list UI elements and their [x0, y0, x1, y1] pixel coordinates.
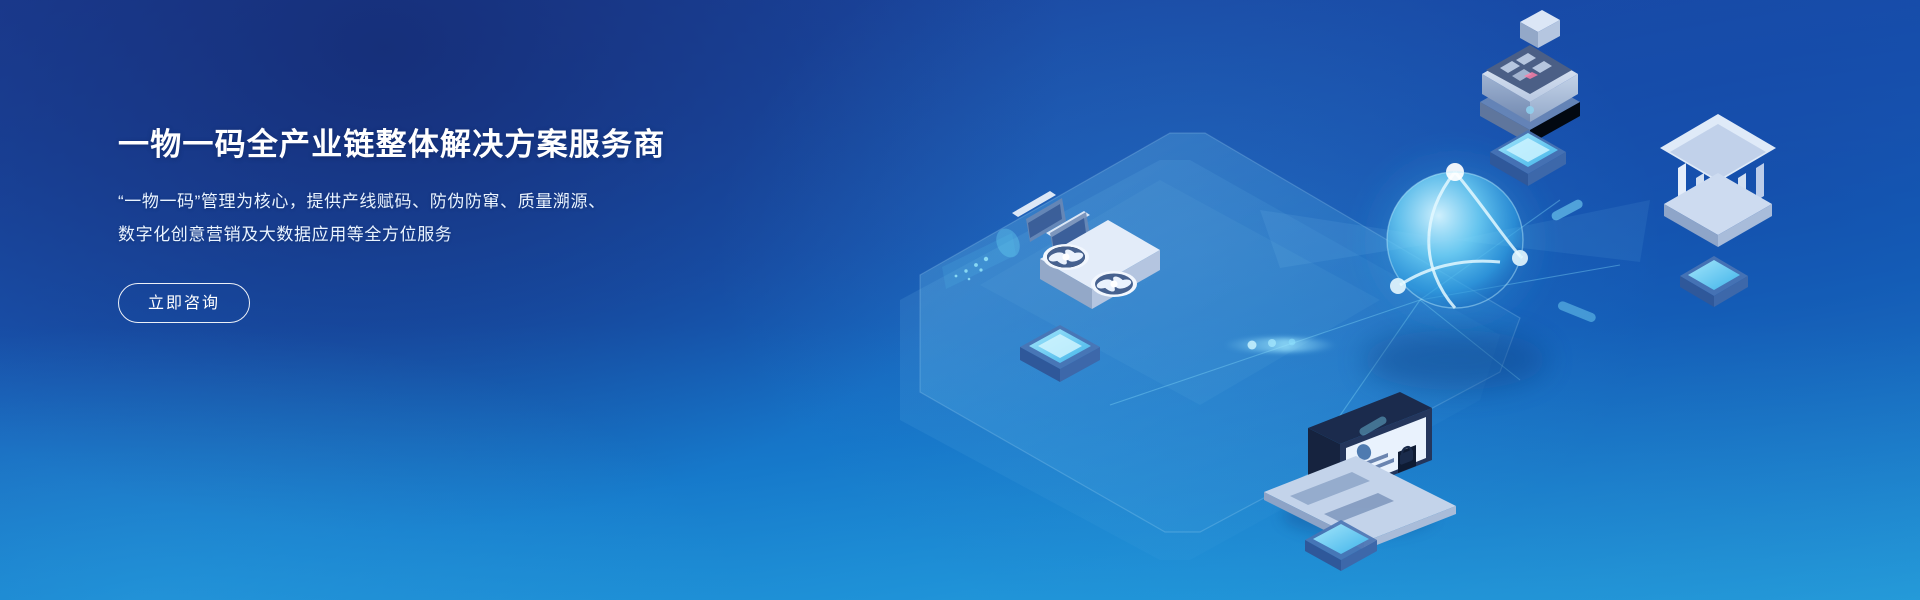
- banner-copy-block: 一物一码全产业链整体解决方案服务商 “一物一码”管理为核心，提供产线赋码、防伪防…: [118, 126, 818, 323]
- pedestal: [1680, 256, 1748, 307]
- pos-terminal: [1480, 10, 1580, 144]
- consult-now-button[interactable]: 立即咨询: [118, 283, 250, 323]
- isometric-illustration: [860, 0, 1920, 600]
- page-title: 一物一码全产业链整体解决方案服务商: [118, 126, 818, 163]
- hero-banner: 一物一码全产业链整体解决方案服务商 “一物一码”管理为核心，提供产线赋码、防伪防…: [0, 0, 1920, 600]
- subtitle-line-2: 数字化创意营销及大数据应用等全方位服务: [118, 218, 818, 251]
- bank-building: [1660, 114, 1776, 247]
- illustration-canvas: [860, 0, 1920, 600]
- subtitle-line-1: “一物一码”管理为核心，提供产线赋码、防伪防窜、质量溯源、: [118, 185, 818, 218]
- data-link-pulse: [1224, 338, 1336, 352]
